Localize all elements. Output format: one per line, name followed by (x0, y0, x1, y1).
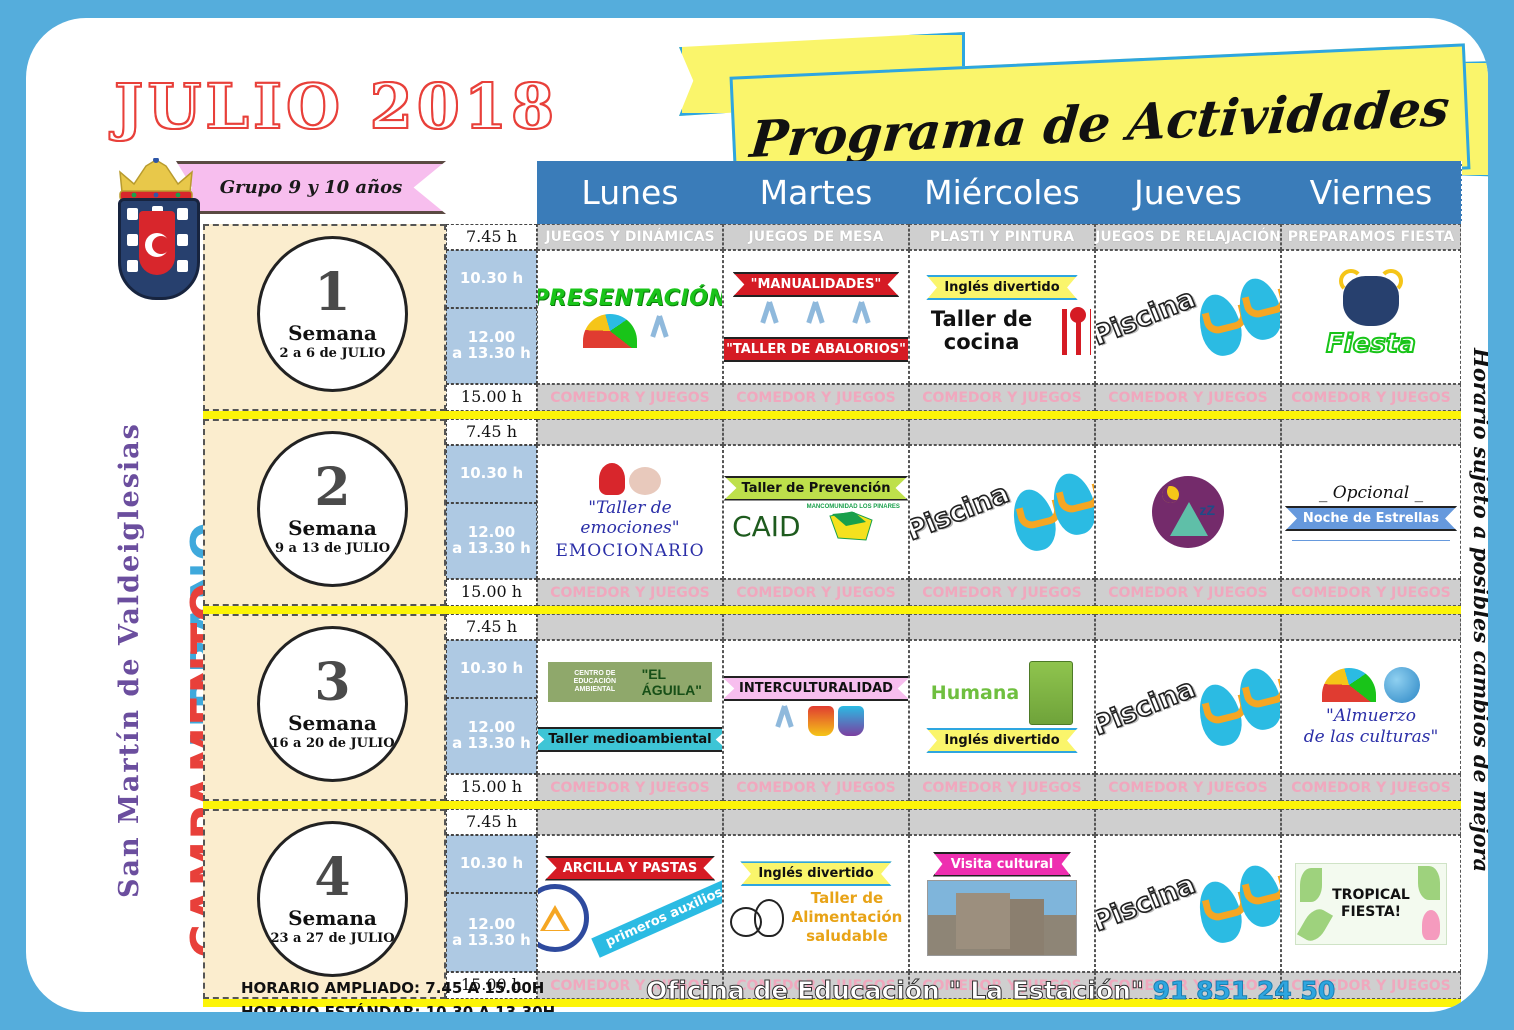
time-cell-morning: 10.30 h (446, 250, 537, 308)
emocionario-label: EMOCIONARIO (555, 541, 704, 561)
week-row-4: 4Semana23 a 27 de JULIO7.45 h10.30 h12.0… (203, 809, 1461, 999)
week-semana-label: Semana (288, 906, 377, 930)
day-header-label: Martes (760, 173, 873, 212)
early-band-martes (723, 614, 909, 640)
activity-cell[interactable]: Taller de PrevenciónCAIDMANCOMUNIDAD LOS… (723, 445, 909, 579)
lunch-band-label: COMEDOR Y JUEGOS (736, 390, 895, 406)
activity-cell[interactable]: CENTRO DE EDUCACIÓN AMBIENTAL"EL ÁGUILA"… (537, 640, 723, 774)
week-semana-label: Semana (288, 516, 377, 540)
time-cell-lunch: 15.00 h (446, 384, 537, 411)
fiesta-label: Fiesta (1326, 329, 1416, 359)
early-band-lunes: JUEGOS Y DINÁMICAS (537, 224, 723, 250)
week-dates: 2 a 6 de JULIO (279, 346, 385, 361)
early-band-jueves: JUEGOS DE RELAJACIÓN (1095, 224, 1281, 250)
piscina-label: Piscina (1095, 282, 1200, 351)
activity-cell[interactable]: Piscina (1095, 835, 1281, 972)
early-band-martes: JUEGOS DE MESA (723, 224, 909, 250)
week-separator (203, 606, 1461, 614)
lunch-band: COMEDOR Y JUEGOS (909, 774, 1095, 801)
flip-flops-icon (1200, 668, 1281, 746)
lunch-band: COMEDOR Y JUEGOS (537, 774, 723, 801)
lunch-band: COMEDOR Y JUEGOS (1095, 384, 1281, 411)
time-cell-morning: 10.30 h (446, 835, 537, 893)
activity-cell[interactable]: PRESENTACIÓN (537, 250, 723, 384)
castle-photo (927, 880, 1077, 956)
lunch-band-label: COMEDOR Y JUEGOS (550, 780, 709, 796)
early-band-jueves (1095, 419, 1281, 445)
scissors-icon (845, 300, 879, 334)
early-band-martes (723, 419, 909, 445)
humana-brand-label: Humana (931, 682, 1019, 704)
activity-cell[interactable]: Visita cultural (909, 835, 1095, 972)
day-header-martes: Martes (723, 161, 910, 224)
lunch-band: COMEDOR Y JUEGOS (723, 384, 909, 411)
week-dates: 9 a 13 de JULIO (275, 541, 390, 556)
coat-of-arms (108, 158, 204, 308)
abalorios-ribbon: "TALLER DE ABALORIOS" (723, 337, 909, 362)
week-row-3: 3Semana16 a 20 de JULIO7.45 h10.30 h12.0… (203, 614, 1461, 801)
day-header-jueves: Jueves (1095, 161, 1282, 224)
lunch-band-label: COMEDOR Y JUEGOS (1291, 780, 1450, 796)
lunch-band-label: COMEDOR Y JUEGOS (922, 585, 1081, 601)
early-band-label: JUEGOS DE RELAJACIÓN (1095, 229, 1281, 245)
week-circle: 1Semana2 a 6 de JULIO (257, 236, 408, 392)
time-cell-midday: 12.00a 13.30 h (446, 893, 537, 972)
time-cell-morning: 10.30 h (446, 640, 537, 698)
day-header-label: Lunes (581, 173, 678, 212)
lunch-band: COMEDOR Y JUEGOS (1281, 579, 1461, 606)
lunch-band-label: COMEDOR Y JUEGOS (1108, 780, 1267, 796)
activity-cell[interactable]: INTERCULTURALIDAD (723, 640, 909, 774)
noche-estrellas-ribbon: Noche de Estrellas (1285, 506, 1457, 531)
lunch-band-label: COMEDOR Y JUEGOS (1291, 585, 1450, 601)
early-band-viernes (1281, 419, 1461, 445)
early-band-label: PREPARAMOS FIESTA (1288, 229, 1455, 245)
lunch-band: COMEDOR Y JUEGOS (537, 579, 723, 606)
activity-cell[interactable]: _ Opcional _Noche de Estrellas (1281, 445, 1461, 579)
crown-icon (116, 158, 196, 202)
activity-cell[interactable]: Piscina (1095, 640, 1281, 774)
bull-mascot-icon (1343, 276, 1399, 326)
lunch-band: COMEDOR Y JUEGOS (1095, 774, 1281, 801)
early-band-viernes (1281, 614, 1461, 640)
taller-cocina-label: Taller de cocina (913, 308, 1050, 354)
activity-cell[interactable]: Inglés divertidoTaller de cocina (909, 250, 1095, 384)
scissors-icon (768, 704, 802, 738)
early-band-label: JUEGOS Y DINÁMICAS (545, 229, 714, 245)
time-cell-early: 7.45 h (446, 224, 537, 250)
week-row-1: 1Semana2 a 6 de JULIO7.45 h10.30 h12.00a… (203, 224, 1461, 411)
early-band-martes (723, 809, 909, 835)
early-band-viernes (1281, 809, 1461, 835)
early-band-miércoles (909, 419, 1095, 445)
taller-prevencion-ribbon: Taller de Prevención (724, 476, 909, 501)
piscina-label: Piscina (1095, 869, 1200, 938)
week-number: 3 (314, 657, 350, 709)
lunch-band-label: COMEDOR Y JUEGOS (922, 780, 1081, 796)
lunch-band-label: COMEDOR Y JUEGOS (1291, 390, 1450, 406)
week-label-cell: 4Semana23 a 27 de JULIO (203, 809, 446, 999)
time-cell-early: 7.45 h (446, 809, 537, 835)
footer-contact: Oficina de Educación " La Estación" 91 8… (646, 976, 1335, 1005)
caid-label: CAID (732, 510, 801, 543)
time-cell-morning: 10.30 h (446, 445, 537, 503)
activity-cell[interactable]: HumanaInglés divertido (909, 640, 1095, 774)
early-band-miércoles: PLASTI Y PINTURA (909, 224, 1095, 250)
disclaimer-note: Horario sujeto a posibles cambios de mej… (1469, 348, 1488, 872)
early-band-lunes (537, 419, 723, 445)
lunch-band-label: COMEDOR Y JUEGOS (736, 585, 895, 601)
activity-cell[interactable]: TROPICALFIESTA! (1281, 835, 1461, 972)
ingles-divertido-ribbon: Inglés divertido (926, 728, 1077, 753)
day-header-viernes: Viernes (1281, 161, 1462, 224)
scissors-icon (753, 300, 787, 334)
interculturalidad-ribbon: INTERCULTURALIDAD (723, 676, 909, 701)
time-cell-midday: 12.00a 13.30 h (446, 698, 537, 774)
scissors-icon (643, 314, 677, 348)
taller-medioambiental-ribbon: Taller medioambiental (537, 727, 723, 752)
day-header-lunes: Lunes (537, 161, 724, 224)
el-aguila-logo: CENTRO DE EDUCACIÓN AMBIENTAL"EL ÁGUILA" (548, 662, 712, 702)
footer-schedule-extended: HORARIO AMPLIADO: 7.45 A 15.00H (241, 976, 555, 1000)
painted-hands-icon (808, 706, 864, 736)
activity-cell[interactable]: Inglés divertidoTaller deAlimentaciónsal… (723, 835, 909, 972)
almuerzo-culturas-label: "Almuerzode las culturas" (1304, 706, 1439, 747)
lunch-band: COMEDOR Y JUEGOS (1095, 579, 1281, 606)
flip-flops-icon (1014, 473, 1095, 551)
early-band-jueves (1095, 614, 1281, 640)
mancomunidad-logo: MANCOMUNIDAD LOS PINARES (807, 504, 900, 549)
day-header-miércoles: Miércoles (909, 161, 1096, 224)
lunch-band: COMEDOR Y JUEGOS (723, 774, 909, 801)
parachute-icon (583, 314, 637, 348)
visita-cultural-ribbon: Visita cultural (933, 852, 1072, 877)
activity-cell[interactable]: "Taller de emociones"EMOCIONARIO (537, 445, 723, 579)
week-separator (203, 411, 1461, 419)
week-number: 1 (314, 267, 350, 319)
poster-canvas: JULIO 2018 Grupo 9 y 10 años Programa de… (26, 18, 1488, 1012)
activity-cell[interactable]: Fiesta (1281, 250, 1461, 384)
page-title: JULIO 2018 (114, 70, 558, 143)
shield-icon (118, 198, 200, 300)
day-header-label: Jueves (1134, 173, 1242, 212)
time-cell-midday: 12.00a 13.30 h (446, 308, 537, 384)
early-band-jueves (1095, 809, 1281, 835)
arcilla-pastas-ribbon: ARCILLA Y PASTAS (545, 856, 716, 881)
early-band-lunes (537, 614, 723, 640)
footer-schedule-standard: HORARIO ESTÁNDAR: 10.30 A 13.30H (241, 1000, 555, 1012)
week-row-2: 2Semana9 a 13 de JULIO7.45 h10.30 h12.00… (203, 419, 1461, 606)
time-cell-early: 7.45 h (446, 419, 537, 445)
week-label-cell: 2Semana9 a 13 de JULIO (203, 419, 446, 606)
parachute-icon (1322, 668, 1376, 702)
divider-flourish (1292, 540, 1450, 541)
night-tent-icon: zZ (1152, 476, 1224, 548)
presentacion-label: PRESENTACIÓN (537, 286, 723, 311)
week-separator (203, 801, 1461, 809)
brand-town: San Martín de Valdeiglesias (114, 422, 145, 898)
primeros-auxilios-ribbon: primeros auxilios (591, 877, 723, 957)
lunch-band-label: COMEDOR Y JUEGOS (550, 390, 709, 406)
week-number: 2 (314, 462, 350, 514)
manualidades-ribbon: "MANUALIDADES" (733, 272, 900, 297)
activity-cell[interactable]: Piscina (1095, 250, 1281, 384)
footer-office: Oficina de Educación " La Estación" (646, 976, 1144, 1005)
activity-cell[interactable]: "Almuerzode las culturas" (1281, 640, 1461, 774)
ingles-divertido-ribbon: Inglés divertido (740, 861, 891, 886)
early-band-miércoles (909, 614, 1095, 640)
early-band-miércoles (909, 809, 1095, 835)
taller-emociones-label: "Taller de emociones" (541, 498, 719, 539)
flip-flops-icon (1200, 865, 1281, 943)
lunch-band: COMEDOR Y JUEGOS (1281, 774, 1461, 801)
day-header-label: Viernes (1310, 173, 1433, 212)
lunch-band-label: COMEDOR Y JUEGOS (922, 390, 1081, 406)
footer-schedule: HORARIO AMPLIADO: 7.45 A 15.00H HORARIO … (241, 976, 555, 1012)
lunch-band: COMEDOR Y JUEGOS (537, 384, 723, 411)
week-semana-label: Semana (288, 321, 377, 345)
early-band-viernes: PREPARAMOS FIESTA (1281, 224, 1461, 250)
lunch-band-label: COMEDOR Y JUEGOS (550, 585, 709, 601)
lunch-band: COMEDOR Y JUEGOS (909, 579, 1095, 606)
activity-cell[interactable]: ARCILLA Y PASTASprimeros auxilios (537, 835, 723, 972)
cutlery-icon (1058, 303, 1091, 359)
footer-phone[interactable]: 91 851 24 50 (1153, 976, 1336, 1005)
fruit-icon (730, 899, 784, 937)
activity-cell[interactable]: Piscina (909, 445, 1095, 579)
lunch-band-label: COMEDOR Y JUEGOS (1108, 585, 1267, 601)
lunch-band: COMEDOR Y JUEGOS (723, 579, 909, 606)
opcional-label: _ Opcional _ (1319, 483, 1423, 503)
time-cell-lunch: 15.00 h (446, 774, 537, 801)
proteccion-civil-logo (537, 884, 589, 952)
lunch-band-label: COMEDOR Y JUEGOS (736, 780, 895, 796)
piscina-label: Piscina (1095, 672, 1200, 741)
week-label-cell: 1Semana2 a 6 de JULIO (203, 224, 446, 411)
week-dates: 16 a 20 de JULIO (270, 736, 394, 751)
week-dates: 23 a 27 de JULIO (270, 931, 394, 946)
day-header-label: Miércoles (924, 173, 1080, 212)
lunch-band-label: COMEDOR Y JUEGOS (1108, 390, 1267, 406)
piscina-label: Piscina (909, 477, 1014, 546)
alimentacion-saludable-label: Taller deAlimentaciónsaludable (792, 889, 903, 945)
flip-flops-icon (1200, 278, 1281, 356)
time-cell-lunch: 15.00 h (446, 579, 537, 606)
ingles-divertido-ribbon: Inglés divertido (926, 275, 1077, 300)
scissors-icon (799, 300, 833, 334)
tropical-fiesta-card: TROPICALFIESTA! (1295, 863, 1447, 945)
early-band-label: PLASTI Y PINTURA (930, 229, 1074, 245)
schedule-grid: LunesMartesMiércolesJuevesViernes 1Seman… (203, 161, 1461, 951)
week-circle: 3Semana16 a 20 de JULIO (257, 626, 408, 782)
clothing-container-icon (1029, 661, 1073, 725)
heart-brain-icon (599, 463, 661, 495)
week-semana-label: Semana (288, 711, 377, 735)
activity-cell[interactable]: "MANUALIDADES""TALLER DE ABALORIOS" (723, 250, 909, 384)
week-circle: 2Semana9 a 13 de JULIO (257, 431, 408, 587)
time-cell-midday: 12.00a 13.30 h (446, 503, 537, 579)
week-label-cell: 3Semana16 a 20 de JULIO (203, 614, 446, 801)
early-band-label: JUEGOS DE MESA (749, 229, 884, 245)
program-title: Programa de Actividades (748, 77, 1452, 168)
early-band-lunes (537, 809, 723, 835)
lunch-band: COMEDOR Y JUEGOS (909, 384, 1095, 411)
lunch-band: COMEDOR Y JUEGOS (1281, 384, 1461, 411)
globe-kids-icon (1384, 667, 1420, 703)
week-circle: 4Semana23 a 27 de JULIO (257, 821, 408, 977)
time-cell-early: 7.45 h (446, 614, 537, 640)
activity-cell[interactable]: zZ (1095, 445, 1281, 579)
week-number: 4 (314, 852, 350, 904)
